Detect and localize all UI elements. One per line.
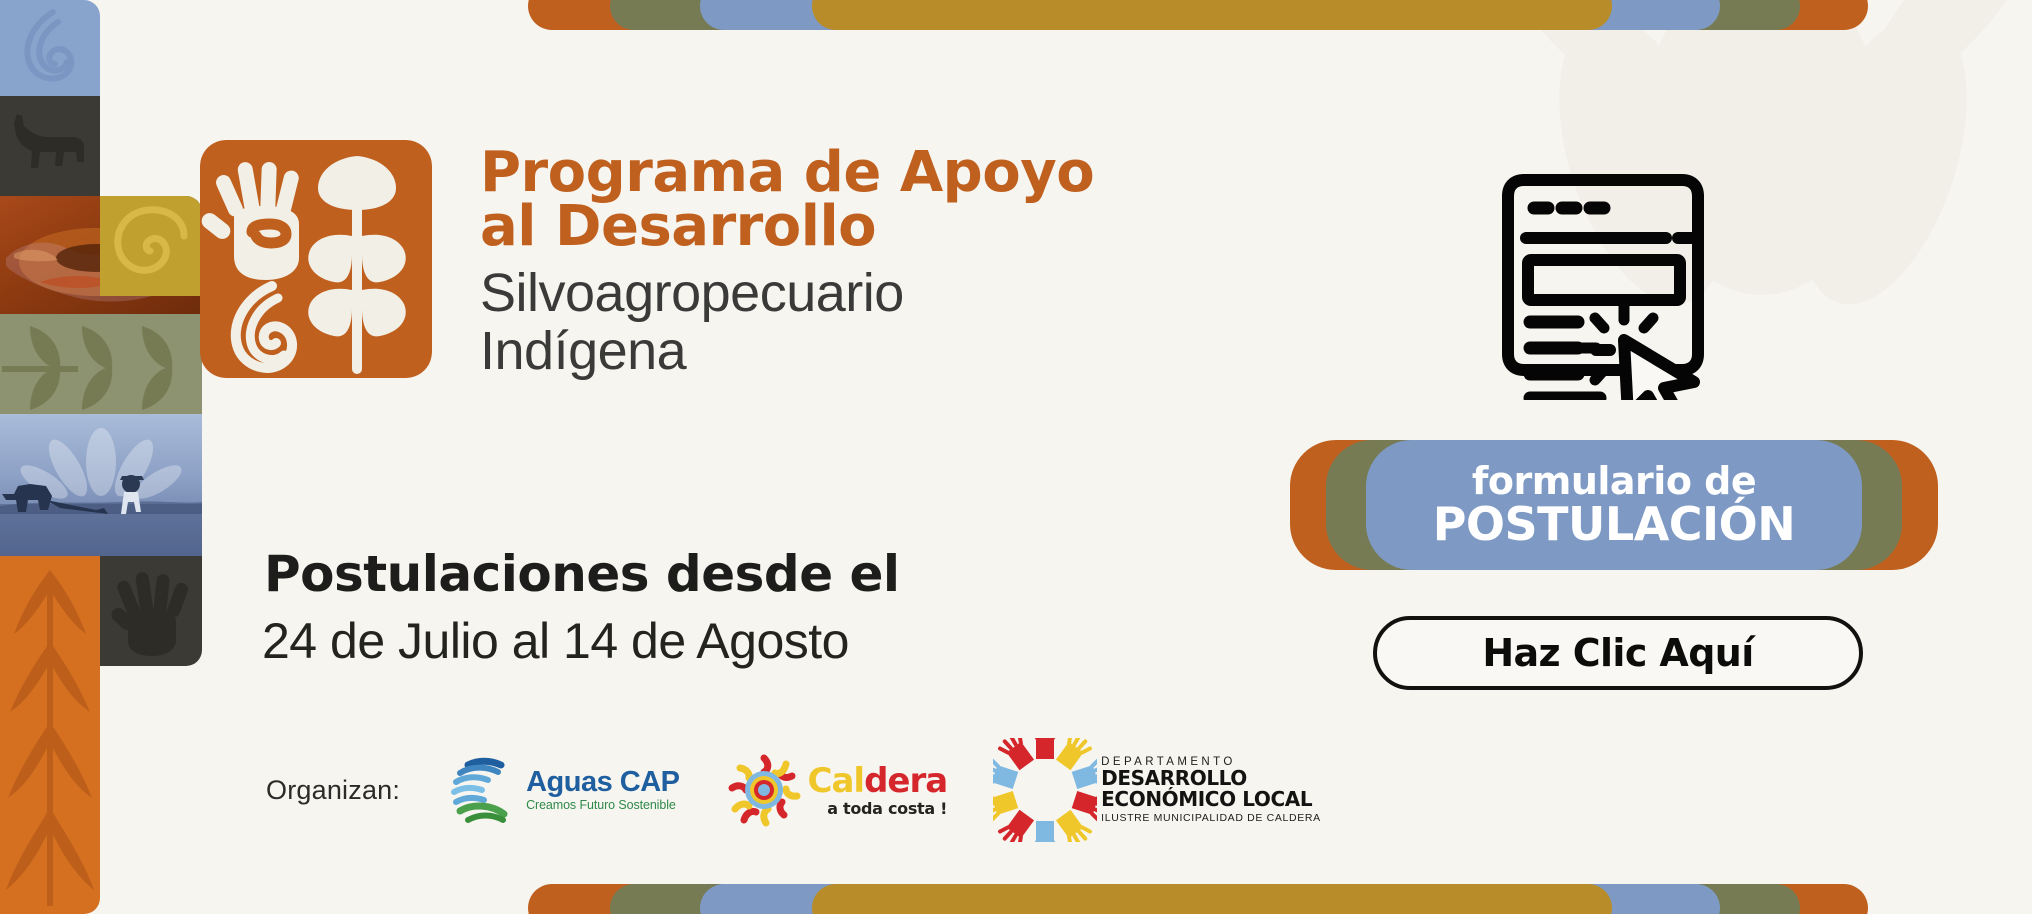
spiral-teardrop-icon <box>0 0 100 96</box>
caldera-name-part2: dera <box>864 761 947 801</box>
program-logo-text: Programa de Apoyo al Desarrollo Silvoagr… <box>480 140 1094 380</box>
form-with-cursor-icon <box>1478 150 1728 400</box>
logo-subtitle-line1: Silvoagropecuario <box>480 264 1094 322</box>
bottom-decorative-bar <box>0 884 2032 914</box>
aguas-cap-text: Aguas CAP Creamos Futuro Sostenible <box>526 768 679 812</box>
tile-spiral-blue <box>0 0 100 96</box>
haz-clic-aqui-button[interactable]: Haz Clic Aquí <box>1373 616 1863 690</box>
tile-hand-dark <box>100 556 202 666</box>
llama-icon <box>0 96 100 196</box>
sponsor-desarrollo-economico-local: DEPARTAMENTO DESARROLLO ECONÓMICO LOCAL … <box>993 738 1321 842</box>
tile-spiral-gold <box>100 196 202 296</box>
caldera-text: Caldera a toda costa ! <box>808 764 948 817</box>
depto-line2: DESARROLLO <box>1101 768 1321 789</box>
logo-title-line1: Programa de Apoyo <box>480 146 1094 200</box>
haz-clic-aqui-label: Haz Clic Aquí <box>1482 631 1753 675</box>
circle-of-hands-icon <box>993 738 1097 842</box>
left-mosaic-strip <box>0 0 202 914</box>
pill-line-formulario: formulario de <box>1472 463 1756 500</box>
pill-text: formulario de POSTULACIÓN <box>1290 440 1938 570</box>
spiral-icon <box>100 196 202 296</box>
farmer-plowing-photo <box>0 414 202 556</box>
pine-tree-icon <box>0 556 100 914</box>
tile-tree-orange <box>0 556 100 914</box>
formulario-postulacion-pill[interactable]: formulario de POSTULACIÓN <box>1290 440 1938 570</box>
leaf-branch-icon <box>0 314 202 414</box>
deco-segment-gold <box>812 884 1612 914</box>
deco-segment-gold <box>812 0 1612 30</box>
water-waves-circle-icon <box>446 751 524 829</box>
tile-leaves-olive <box>0 314 202 414</box>
caldera-tagline: a toda costa ! <box>808 801 948 817</box>
sun-burst-icon <box>726 752 802 828</box>
handprint-icon <box>100 556 202 666</box>
program-logo-mark <box>200 140 432 378</box>
tile-llama-dark <box>0 96 100 196</box>
logo-subtitle-line2: Indígena <box>480 322 1094 380</box>
depto-line3: ECONÓMICO LOCAL <box>1101 789 1321 810</box>
aguas-cap-name: Aguas CAP <box>526 768 679 797</box>
organizers-label: Organizan: <box>266 775 400 806</box>
depto-line4: ILUSTRE MUNICIPALIDAD DE CALDERA <box>1101 813 1321 824</box>
headline: Postulaciones desde el <box>264 545 900 603</box>
sponsor-caldera: Caldera a toda costa ! <box>726 752 948 828</box>
caldera-name-part1: Cal <box>808 761 865 801</box>
tile-plowing-blue <box>0 414 202 556</box>
sponsor-aguas-cap: Aguas CAP Creamos Futuro Sostenible <box>446 751 679 829</box>
desarrollo-economico-local-text: DEPARTAMENTO DESARROLLO ECONÓMICO LOCAL … <box>1101 757 1321 823</box>
promo-banner: Programa de Apoyo al Desarrollo Silvoagr… <box>0 0 2032 914</box>
program-logo: Programa de Apoyo al Desarrollo Silvoagr… <box>200 140 1094 380</box>
aguas-cap-tagline: Creamos Futuro Sostenible <box>526 799 679 812</box>
date-range: 24 de Julio al 14 de Agosto <box>262 612 849 670</box>
caldera-name: Caldera <box>808 764 948 798</box>
top-decorative-bar <box>0 0 2032 30</box>
logo-title-line2: al Desarrollo <box>480 200 1094 254</box>
pill-line-postulacion: POSTULACIÓN <box>1433 502 1796 547</box>
organizers-row: Organizan: Aguas CAP Creamos Futuro Sost… <box>266 738 1321 842</box>
